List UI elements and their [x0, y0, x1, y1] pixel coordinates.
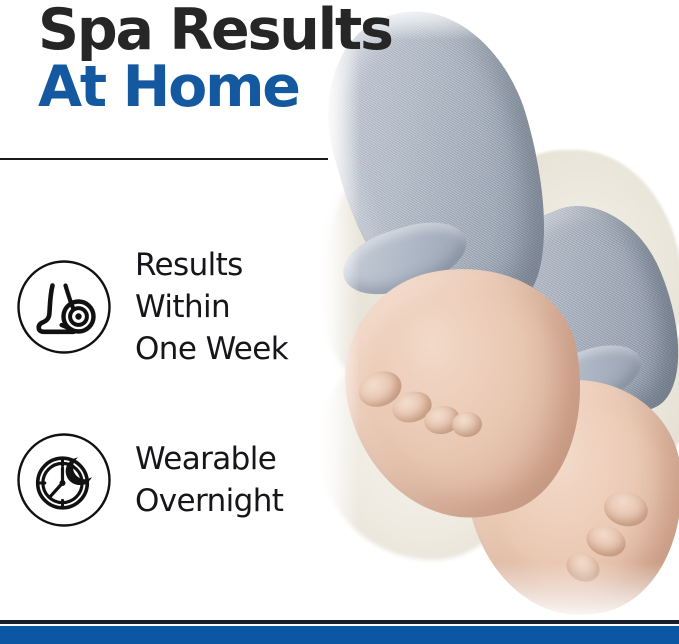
feature-list: Results Within One Week [0, 246, 330, 541]
feature-item-wearable-overnight: Wearable Overnight [0, 419, 330, 541]
page-title-line-1: Spa Results [38, 2, 392, 59]
page-title: Spa Results At Home [38, 2, 392, 116]
footer-blue-band [0, 626, 679, 644]
clock-moon-icon [16, 432, 112, 528]
photo-edge-fade-bottom [318, 562, 679, 622]
product-infographic: Spa Results At Home Results [0, 0, 679, 644]
title-divider-rule [0, 158, 328, 160]
feature-item-results-within-one-week: Results Within One Week [0, 246, 330, 368]
footer-dark-rule [0, 620, 679, 624]
page-title-line-2: At Home [38, 59, 392, 116]
foot-target-icon [16, 259, 112, 355]
feature-item-label: Wearable Overnight [135, 438, 283, 522]
feature-item-label: Results Within One Week [135, 244, 288, 370]
